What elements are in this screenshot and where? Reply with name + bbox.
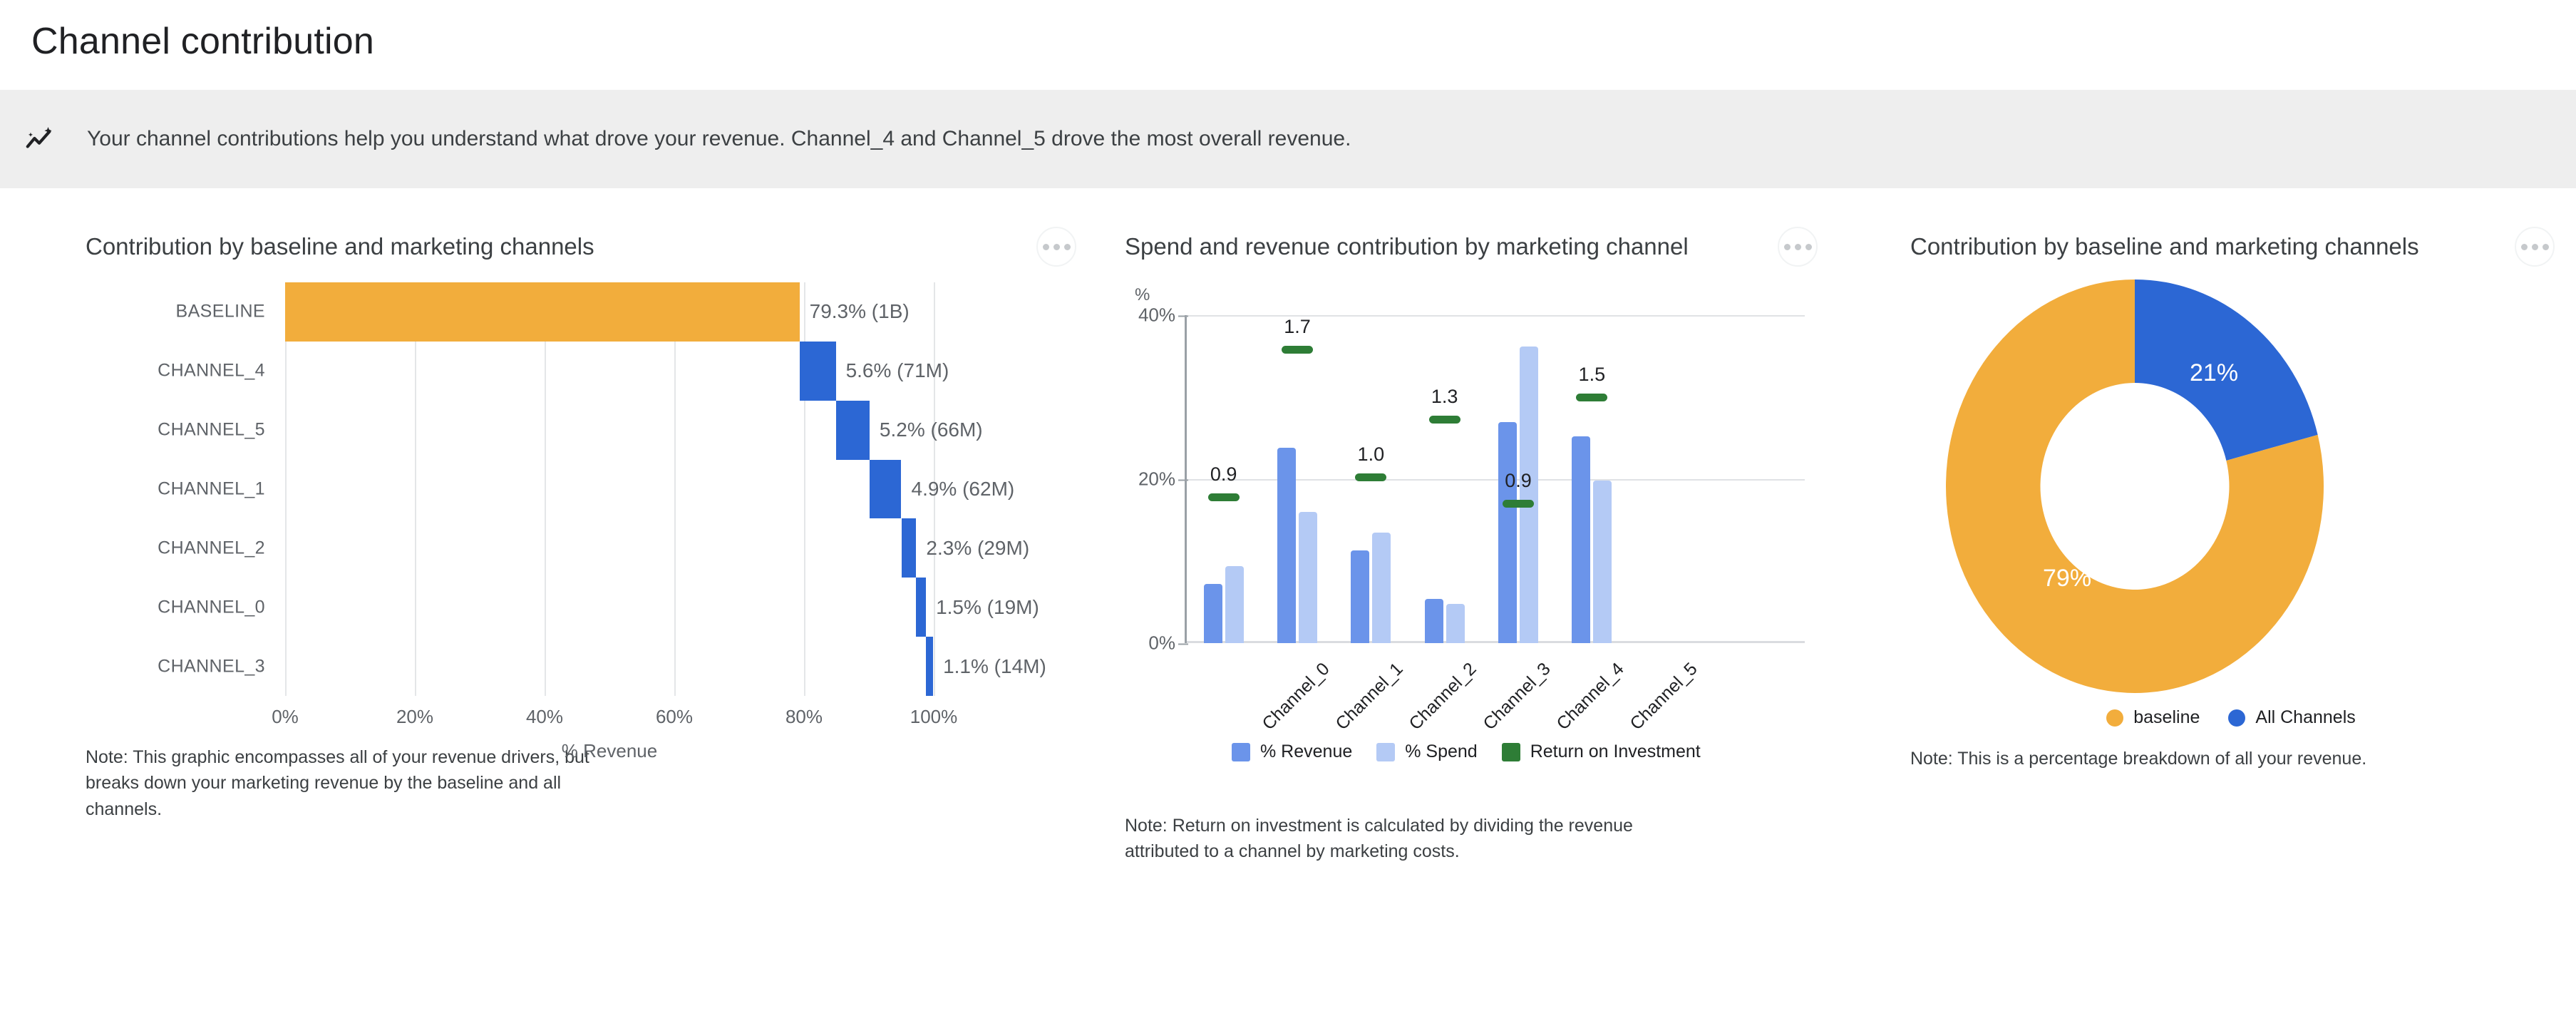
- grouped-bar-spend[interactable]: [1372, 533, 1391, 643]
- grouped-legend: % Revenue% SpendReturn on Investment: [1232, 742, 1701, 762]
- legend-swatch-icon: [1502, 743, 1520, 761]
- waterfall-row: BASELINE79.3% (1B): [285, 282, 934, 342]
- waterfall-category-label: CHANNEL_0: [158, 597, 265, 617]
- insight-banner-text: Your channel contributions help you unde…: [87, 127, 1351, 151]
- grouped-bar-revenue[interactable]: [1425, 599, 1443, 643]
- grouped-legend-label: Return on Investment: [1530, 742, 1701, 762]
- grouped-bar-spend[interactable]: [1299, 512, 1317, 643]
- grouped-roi-marker[interactable]: [1355, 473, 1386, 481]
- grouped-legend-item[interactable]: Return on Investment: [1502, 742, 1701, 762]
- more-options-icon[interactable]: [2515, 227, 2555, 267]
- donut-legend-label: baseline: [2133, 707, 2200, 728]
- insight-banner: Your channel contributions help you unde…: [0, 90, 2576, 188]
- waterfall-bar[interactable]: [926, 637, 933, 696]
- more-options-icon[interactable]: [1036, 227, 1076, 267]
- grouped-bar-revenue[interactable]: [1572, 436, 1590, 643]
- waterfall-x-tick: 40%: [526, 706, 563, 728]
- grouped-bar-revenue[interactable]: [1277, 448, 1296, 643]
- waterfall-row: CHANNEL_14.9% (62M): [285, 460, 934, 519]
- donut-legend: baselineAll Channels: [1910, 707, 2552, 728]
- waterfall-x-axis-title: % Revenue: [285, 740, 934, 762]
- grouped-legend-label: % Spend: [1405, 742, 1477, 762]
- donut-title: Contribution by baseline and marketing c…: [1910, 233, 2419, 260]
- panel-grouped-bars: Spend and revenue contribution by market…: [1112, 188, 1903, 865]
- grouped-y-unit-label: %: [1135, 285, 1150, 305]
- waterfall-value-label: 79.3% (1B): [810, 300, 910, 323]
- waterfall-category-label: CHANNEL_2: [158, 538, 265, 558]
- waterfall-row: CHANNEL_55.2% (66M): [285, 401, 934, 460]
- waterfall-chart: BASELINE79.3% (1B)CHANNEL_45.6% (71M)CHA…: [86, 282, 841, 724]
- donut-legend-label: All Channels: [2255, 707, 2355, 728]
- grouped-x-tick-label: Channel_2: [1406, 659, 1481, 734]
- waterfall-category-label: CHANNEL_4: [158, 361, 265, 381]
- waterfall-row: CHANNEL_45.6% (71M): [285, 342, 934, 401]
- grouped-plot-area: 0%20%40%0.91.71.01.30.91.5: [1185, 315, 1627, 643]
- waterfall-value-label: 1.5% (19M): [936, 596, 1039, 619]
- grouped-bar-chart: % 0%20%40%0.91.71.01.30.91.5 Channel_0Ch…: [1125, 285, 1845, 806]
- grouped-roi-marker[interactable]: [1282, 346, 1313, 354]
- waterfall-x-tick: 100%: [910, 706, 958, 728]
- waterfall-value-label: 4.9% (62M): [912, 478, 1015, 501]
- grouped-legend-item[interactable]: % Spend: [1376, 742, 1477, 762]
- more-options-icon[interactable]: [1778, 227, 1818, 267]
- grouped-bar-spend[interactable]: [1225, 566, 1244, 643]
- waterfall-category-label: CHANNEL_1: [158, 478, 265, 499]
- grouped-roi-label: 1.5: [1579, 364, 1606, 386]
- donut-graphic: [1946, 279, 2388, 693]
- legend-swatch-icon: [1232, 743, 1250, 761]
- grouped-x-tick-label: Channel_5: [1627, 659, 1702, 734]
- grouped-bar-spend[interactable]: [1593, 481, 1612, 643]
- grouped-x-tick-label: Channel_0: [1258, 659, 1334, 734]
- waterfall-x-tick: 0%: [272, 706, 299, 728]
- grouped-x-tick-label: Channel_4: [1552, 659, 1628, 734]
- waterfall-value-label: 2.3% (29M): [926, 537, 1029, 560]
- grouped-legend-label: % Revenue: [1260, 742, 1352, 762]
- grouped-bar-revenue[interactable]: [1204, 584, 1222, 643]
- waterfall-plot-area: BASELINE79.3% (1B)CHANNEL_45.6% (71M)CHA…: [285, 282, 934, 696]
- waterfall-bar[interactable]: [800, 342, 836, 401]
- waterfall-x-axis: 0%20%40%60%80%100%: [285, 696, 934, 746]
- grouped-roi-label: 1.0: [1358, 443, 1385, 466]
- waterfall-row: CHANNEL_22.3% (29M): [285, 518, 934, 578]
- waterfall-title: Contribution by baseline and marketing c…: [86, 233, 594, 260]
- waterfall-x-tick: 20%: [396, 706, 433, 728]
- donut-legend-item[interactable]: All Channels: [2228, 707, 2355, 728]
- waterfall-bar[interactable]: [902, 518, 917, 578]
- grouped-bar-revenue[interactable]: [1351, 550, 1369, 643]
- page-title: Channel contribution: [0, 0, 2576, 63]
- donut-slice-label-baseline: 79%: [2043, 565, 2091, 592]
- waterfall-row: CHANNEL_31.1% (14M): [285, 637, 934, 696]
- grouped-x-tick-label: Channel_1: [1331, 659, 1407, 734]
- waterfall-category-label: CHANNEL_5: [158, 420, 265, 441]
- grouped-y-tick: 0%: [1148, 632, 1175, 655]
- grouped-roi-label: 1.3: [1431, 386, 1458, 408]
- grouped-roi-marker[interactable]: [1429, 416, 1460, 424]
- panel-donut: Contribution by baseline and marketing c…: [1903, 188, 2576, 865]
- waterfall-header: Contribution by baseline and marketing c…: [86, 227, 1112, 267]
- grouped-roi-marker[interactable]: [1576, 394, 1607, 401]
- grouped-bar-spend[interactable]: [1446, 604, 1465, 643]
- grouped-gridline: [1187, 315, 1805, 317]
- grouped-roi-marker[interactable]: [1208, 493, 1240, 501]
- grouped-roi-label: 0.9: [1210, 463, 1237, 486]
- waterfall-bar[interactable]: [870, 460, 902, 519]
- waterfall-value-label: 5.2% (66M): [880, 419, 983, 441]
- insights-sparkle-icon: [17, 116, 63, 162]
- grouped-y-tick: 40%: [1138, 304, 1175, 327]
- donut-slice-label-channels: 21%: [2190, 359, 2238, 387]
- legend-dot-icon: [2228, 709, 2245, 727]
- grouped-bar-spend[interactable]: [1520, 347, 1538, 643]
- legend-swatch-icon: [1376, 743, 1395, 761]
- donut-legend-item[interactable]: baseline: [2106, 707, 2200, 728]
- grouped-bar-revenue[interactable]: [1498, 422, 1517, 644]
- grouped-gridline: [1187, 643, 1805, 645]
- waterfall-x-tick: 60%: [656, 706, 693, 728]
- panel-waterfall: Contribution by baseline and marketing c…: [0, 188, 1112, 865]
- grouped-x-tick-label: Channel_3: [1479, 659, 1555, 734]
- grouped-y-tick: 20%: [1138, 468, 1175, 491]
- waterfall-category-label: CHANNEL_3: [158, 656, 265, 677]
- donut-chart: 21% 79% baselineAll Channels: [1910, 279, 2552, 750]
- waterfall-x-tick: 80%: [785, 706, 823, 728]
- grouped-legend-item[interactable]: % Revenue: [1232, 742, 1352, 762]
- waterfall-bar[interactable]: [916, 578, 926, 637]
- legend-dot-icon: [2106, 709, 2123, 727]
- grouped-note: Note: Return on investment is calculated…: [1125, 813, 1688, 865]
- grouped-roi-label: 0.9: [1505, 470, 1532, 492]
- waterfall-value-label: 1.1% (14M): [943, 655, 1046, 678]
- grouped-title: Spend and revenue contribution by market…: [1125, 233, 1689, 260]
- waterfall-row: CHANNEL_01.5% (19M): [285, 578, 934, 637]
- donut-header: Contribution by baseline and marketing c…: [1910, 227, 2576, 267]
- grouped-roi-marker[interactable]: [1503, 500, 1534, 508]
- waterfall-value-label: 5.6% (71M): [846, 359, 949, 382]
- waterfall-category-label: BASELINE: [176, 302, 265, 322]
- grouped-header: Spend and revenue contribution by market…: [1125, 227, 1903, 267]
- grouped-roi-label: 1.7: [1284, 316, 1311, 338]
- charts-row: Contribution by baseline and marketing c…: [0, 188, 2576, 865]
- waterfall-bar[interactable]: [836, 401, 870, 460]
- waterfall-bar[interactable]: [285, 282, 800, 342]
